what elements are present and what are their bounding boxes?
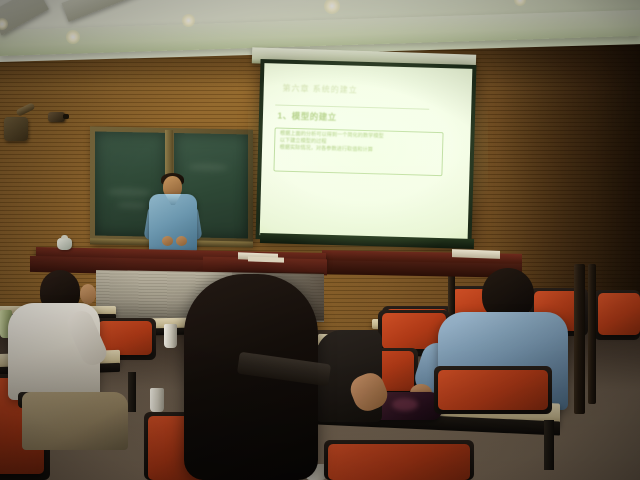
support-pole	[588, 264, 596, 404]
slide-title: 第六章 系统的建立	[282, 79, 424, 102]
wall-speaker-icon	[4, 117, 28, 141]
coffee-cup	[164, 324, 177, 348]
slide-subtitle: 1、模型的建立	[277, 107, 406, 128]
support-pole	[574, 264, 585, 414]
presenter-hand	[176, 236, 187, 246]
projection-screen-surface: 第六章 系统的建立 1、模型的建立 根据上面的分析可以得到一个简化的数学模型 以…	[260, 63, 473, 241]
desk-leg	[128, 372, 136, 412]
desk-leg	[544, 420, 554, 470]
desk-papers	[452, 249, 500, 259]
chair-back	[598, 293, 640, 335]
wall-sensor-icon	[48, 112, 65, 122]
person-hand	[80, 284, 96, 304]
classroom-photo: 第六章 系统的建立 1、模型的建立 根据上面的分析可以得到一个简化的数学模型 以…	[0, 0, 640, 480]
chair-back	[328, 444, 470, 480]
downlight-icon	[66, 30, 80, 44]
presenter-hand	[162, 236, 173, 246]
teapot-icon	[57, 238, 72, 250]
person-legs	[22, 392, 128, 450]
chair-back	[438, 370, 548, 410]
presentation-slide: 第六章 系统的建立 1、模型的建立 根据上面的分析可以得到一个简化的数学模型 以…	[260, 63, 473, 241]
handbag-highlight	[392, 398, 418, 411]
coffee-cup	[150, 388, 164, 412]
projection-screen: 第六章 系统的建立 1、模型的建立 根据上面的分析可以得到一个简化的数学模型 以…	[256, 59, 477, 245]
downlight-icon	[182, 14, 195, 27]
slide-bullet-box: 根据上面的分析可以得到一个简化的数学模型 以下建立模型的过程 根据实际情况，对各…	[274, 127, 444, 176]
